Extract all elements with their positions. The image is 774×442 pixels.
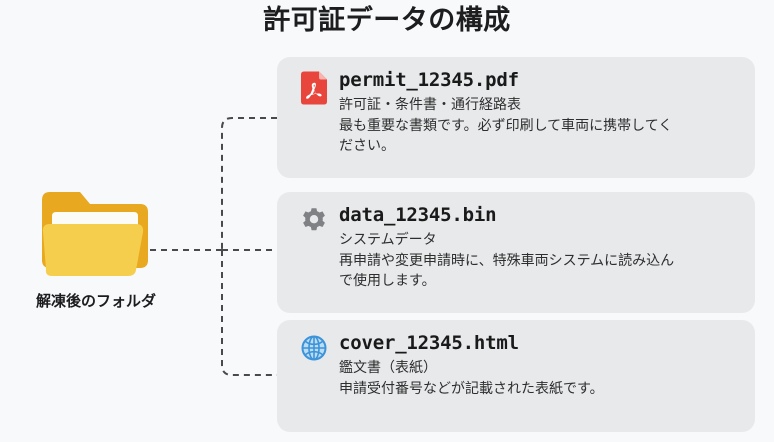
open-folder-icon — [36, 186, 154, 282]
file-name: permit_12345.pdf — [339, 67, 741, 93]
description-line: 鑑文書（表紙） — [339, 357, 741, 378]
file-card-body: cover_12345.html 鑑文書（表紙） 申請受付番号などが記載された表… — [339, 330, 741, 398]
description-line: システムデータ — [339, 229, 741, 250]
file-description: 鑑文書（表紙） 申請受付番号などが記載された表紙です。 — [339, 357, 741, 398]
source-folder-label: 解凍後のフォルダ — [20, 290, 172, 311]
file-name: data_12345.bin — [339, 202, 741, 228]
description-line: 最も重要な書類です。必ず印刷して車両に携帯してく — [339, 115, 741, 136]
gear-icon — [298, 206, 330, 240]
file-card-html[interactable]: cover_12345.html 鑑文書（表紙） 申請受付番号などが記載された表… — [277, 320, 755, 432]
file-card-bin[interactable]: data_12345.bin システムデータ 再申請や変更申請時に、特殊車両シス… — [277, 192, 755, 313]
source-folder: 解凍後のフォルダ — [20, 186, 172, 316]
file-card-body: permit_12345.pdf 許可証・条件書・通行経路表 最も重要な書類です… — [339, 67, 741, 156]
connector-trunk-top — [222, 118, 277, 250]
diagram-canvas: 許可証データの構成 解凍後のフォルダ — [0, 0, 774, 442]
description-line: 許可証・条件書・通行経路表 — [339, 94, 741, 115]
file-description: 許可証・条件書・通行経路表 最も重要な書類です。必ず印刷して車両に携帯してく だ… — [339, 94, 741, 156]
file-name: cover_12345.html — [339, 330, 741, 356]
file-card-pdf[interactable]: permit_12345.pdf 許可証・条件書・通行経路表 最も重要な書類です… — [277, 57, 755, 178]
page-title: 許可証データの構成 — [0, 2, 774, 38]
description-line: ださい。 — [339, 135, 741, 156]
pdf-file-icon — [298, 71, 330, 105]
description-line: で使用します。 — [339, 270, 741, 291]
file-card-body: data_12345.bin システムデータ 再申請や変更申請時に、特殊車両シス… — [339, 202, 741, 291]
globe-icon — [298, 334, 330, 368]
connector-trunk-bottom — [222, 250, 277, 375]
description-line: 申請受付番号などが記載された表紙です。 — [339, 378, 741, 399]
description-line: 再申請や変更申請時に、特殊車両システムに読み込ん — [339, 250, 741, 271]
file-description: システムデータ 再申請や変更申請時に、特殊車両システムに読み込ん で使用します。 — [339, 229, 741, 291]
